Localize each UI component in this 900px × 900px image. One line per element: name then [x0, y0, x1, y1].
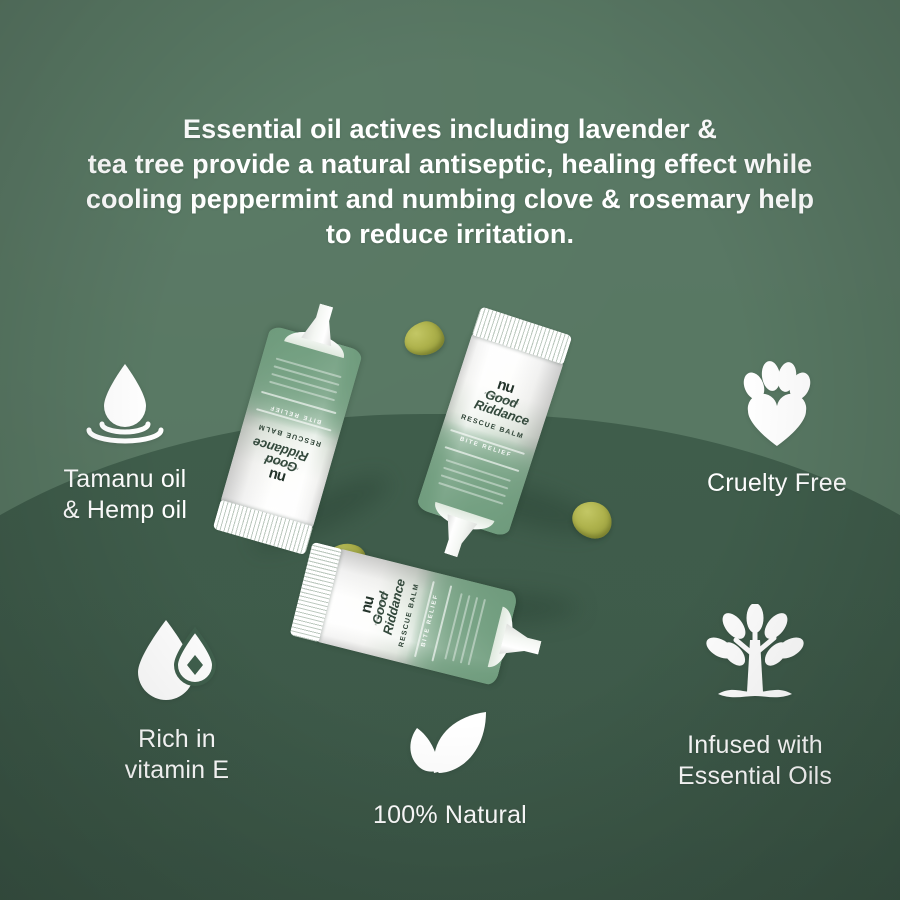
page-title: Essential oil actives including lavender… — [50, 112, 850, 252]
feature-label: Rich in vitamin E — [125, 724, 230, 786]
feature-label: Tamanu oil & Hemp oil — [63, 464, 187, 526]
feature-label: Cruelty Free — [707, 468, 847, 499]
feature-label: 100% Natural — [373, 800, 527, 831]
feature-vitamin-e: Rich in vitamin E — [62, 614, 292, 786]
feature-label: Infused with Essential Oils — [678, 730, 832, 792]
gel-blob — [401, 318, 448, 360]
paw-heart-icon — [724, 358, 830, 454]
leaves-icon — [394, 706, 506, 786]
water-droplet-ripple-icon — [71, 358, 179, 450]
product-cluster: nu naturally unbeatable Good Riddance RE… — [228, 300, 668, 640]
tree-icon — [696, 604, 814, 716]
feature-essential-oils: Infused with Essential Oils — [640, 604, 870, 792]
gel-blob — [569, 498, 616, 542]
feature-100-natural: 100% Natural — [335, 706, 565, 831]
feature-cruelty-free: Cruelty Free — [662, 358, 892, 499]
feature-tamanu-oil: Tamanu oil & Hemp oil — [10, 358, 240, 526]
infographic-canvas: Essential oil actives including lavender… — [0, 0, 900, 900]
droplet-vitamin-icon — [125, 614, 229, 710]
